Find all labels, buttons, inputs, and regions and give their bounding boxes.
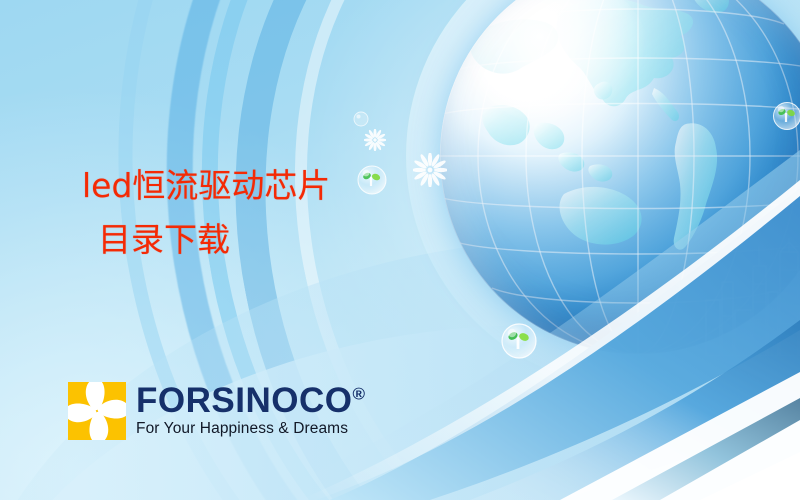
- headline-text: led恒流驱动芯片 目录下载: [82, 162, 412, 264]
- bubble-sprout-icon: [498, 320, 540, 362]
- banner-canvas: led恒流驱动芯片 目录下载: [0, 0, 800, 500]
- company-logo: FORSINOCO® For Your Happiness & Dreams: [68, 382, 365, 440]
- starburst-flower-icon: [413, 153, 447, 187]
- bubble-icon: [352, 110, 370, 128]
- bubble-sprout-icon: [770, 99, 800, 133]
- logo-wordmark-text: FORSINOCO: [136, 381, 352, 420]
- logo-tagline: For Your Happiness & Dreams: [136, 420, 365, 437]
- registered-trademark-symbol: ®: [352, 384, 365, 403]
- headline-line-2: 目录下载: [98, 216, 412, 264]
- starburst-flower-icon-small: [364, 129, 386, 151]
- logo-text-block: FORSINOCO® For Your Happiness & Dreams: [136, 382, 365, 437]
- pinwheel-flower-svg: [68, 382, 126, 440]
- headline-line-1: led恒流驱动芯片: [82, 162, 412, 210]
- pinwheel-flower-icon: [68, 382, 126, 440]
- logo-wordmark: FORSINOCO®: [136, 384, 365, 418]
